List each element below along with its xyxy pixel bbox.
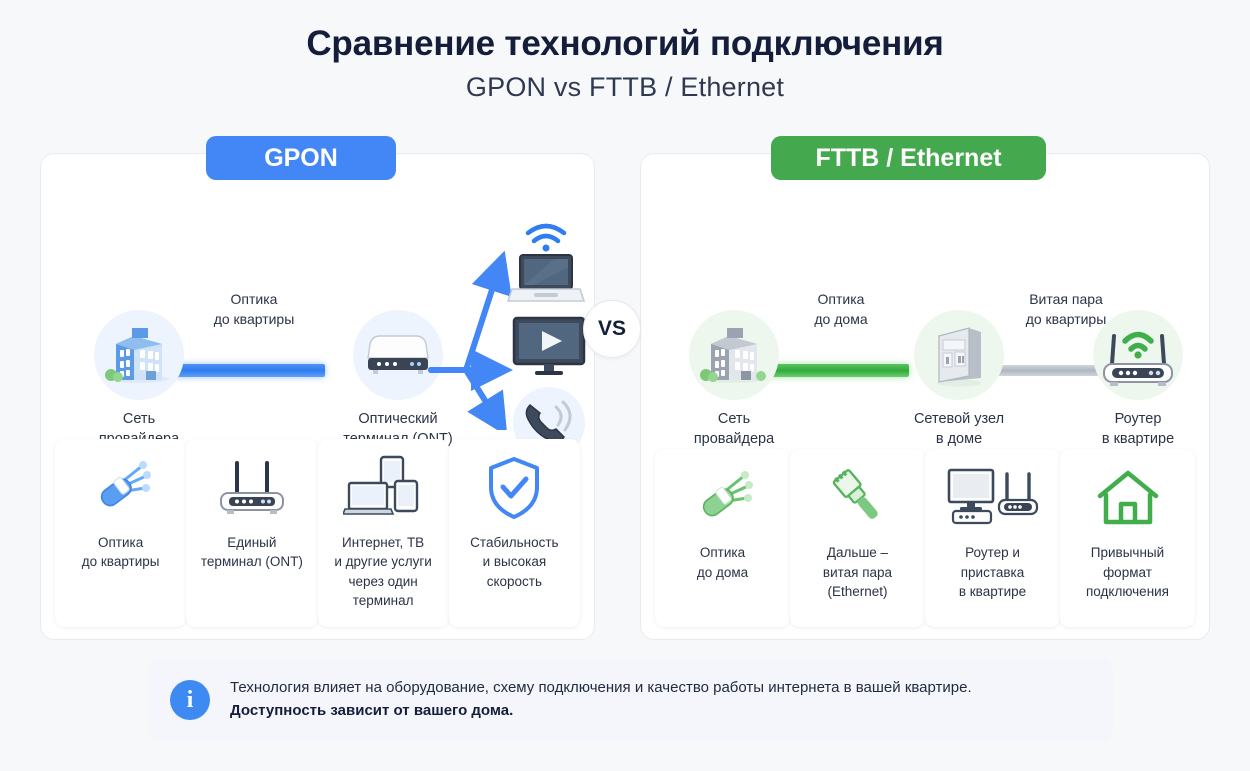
feature-card: Интернет, ТВ и другие услуги через один … [318,439,449,627]
gpon-feature-cards: Оптика до квартиры Единый термина [55,439,580,627]
footer-note-text: Технология влияет на оборудование, схему… [230,677,972,724]
multi-devices-icon [343,453,423,523]
comparison-panels: GPON Оптика до квартиры [0,153,1250,643]
wifi-router-icon [1093,310,1183,400]
laptop-wifi-icon [504,215,588,311]
fttb-diagram: Оптика до дома Витая пара до квартиры [641,210,1209,420]
feature-card: Оптика до квартиры [55,439,186,627]
gpon-link-label: Оптика до квартиры [201,290,307,329]
fiber-cable-icon [692,463,754,533]
vs-badge: VS [583,300,641,358]
feature-card: Стабильность и высокая скорость [449,439,580,627]
apartment-building-icon [94,310,184,400]
feature-card: Привычный формат подключения [1060,449,1195,627]
fttb-panel: FTTB / Ethernet Оптика до дома Витая пар… [640,153,1210,640]
gpon-panel: GPON Оптика до квартиры [40,153,595,640]
device-tv [511,315,587,384]
gpon-badge: GPON [206,136,396,180]
feature-card-text: Дальше – витая пара (Ethernet) [823,543,892,602]
info-icon: i [170,680,210,720]
feature-card-text: Стабильность и высокая скорость [470,533,558,592]
fttb-feature-cards: Оптика до дома Дальше – в [655,449,1195,627]
footer-note-line-1: Технология влияет на оборудование, схему… [230,677,972,700]
node-apartment-router: Роутер в квартире [1073,310,1203,449]
device-laptop [504,215,588,316]
node-label: Роутер в квартире [1073,410,1203,449]
fttb-badge: FTTB / Ethernet [771,136,1046,180]
node-label: Сетевой узел в доме [889,410,1029,449]
feature-card: Единый терминал (ONT) [186,439,317,627]
infographic-root: Сравнение технологий подключения GPON vs… [0,0,1250,771]
home-icon [1095,463,1161,533]
feature-card-text: Привычный формат подключения [1086,543,1169,602]
node-provider-network: Сеть провайдера [669,310,799,449]
node-label: Сеть провайдера [669,410,799,449]
feature-card-text: Единый терминал (ONT) [201,533,303,572]
apartment-building-icon [689,310,779,400]
page-subtitle: GPON vs FTTB / Ethernet [0,72,1250,103]
feature-card-text: Оптика до квартиры [82,533,160,572]
server-cabinet-icon [914,310,1004,400]
fiber-cable-icon [90,453,152,523]
node-network-cabinet: Сетевой узел в доме [889,310,1029,449]
tv-router-icon [947,463,1039,533]
feature-card-text: Роутер и приставка в квартире [959,543,1026,602]
feature-card-text: Оптика до дома [697,543,748,582]
footer-note: i Технология влияет на оборудование, схе… [148,659,1113,741]
footer-note-line-2: Доступность зависит от вашего дома. [230,699,972,723]
fttb-link-label-1: Оптика до дома [796,290,886,329]
feature-card: Дальше – витая пара (Ethernet) [790,449,925,627]
page-title: Сравнение технологий подключения [0,24,1250,64]
feature-card-text: Интернет, ТВ и другие услуги через один … [334,533,431,611]
router-icon [213,453,291,523]
feature-card: Роутер и приставка в квартире [925,449,1060,627]
header: Сравнение технологий подключения GPON vs… [0,0,1250,103]
shield-check-icon [485,453,543,523]
gpon-diagram: Оптика до квартиры [41,210,594,420]
feature-card: Оптика до дома [655,449,790,627]
node-provider-network: Сеть провайдера [74,310,204,449]
ethernet-plug-icon [827,463,889,533]
tv-play-icon [511,315,587,379]
